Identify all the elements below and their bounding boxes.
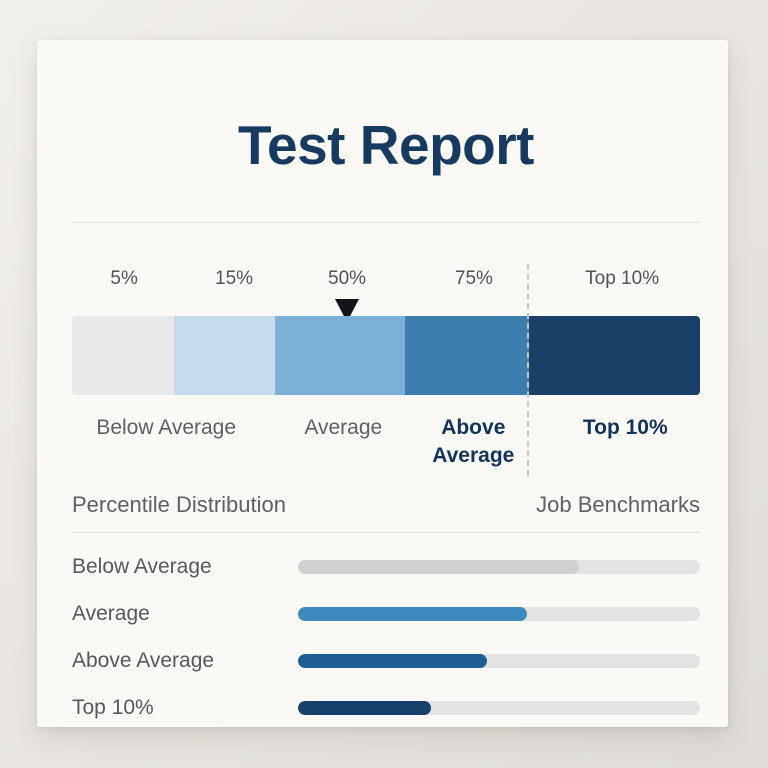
category-label-row: Below AverageAverageAbove AverageTop 10%	[72, 414, 700, 474]
tick-label: 15%	[215, 266, 253, 292]
tick-label: Top 10%	[585, 266, 659, 292]
benchmark-row: Below Average	[72, 554, 700, 601]
benchmark-progress-track[interactable]	[298, 654, 700, 668]
benchmark-progress-fill	[298, 560, 579, 574]
score-marker-icon	[335, 299, 359, 322]
category-label: Above Average	[418, 414, 528, 470]
benchmark-row: Top 10%	[72, 695, 700, 727]
percentile-distribution-caption: Percentile Distribution	[72, 490, 286, 520]
category-label: Below Average	[96, 414, 236, 442]
benchmark-label: Top 10%	[72, 695, 154, 721]
benchmark-row: Average	[72, 601, 700, 648]
category-label: Average	[304, 414, 382, 442]
percentile-segment[interactable]	[275, 316, 405, 395]
percentile-segment-bar[interactable]	[72, 316, 700, 395]
benchmark-progress-track[interactable]	[298, 560, 700, 574]
page-title: Test Report	[72, 114, 700, 176]
benchmark-row: Above Average	[72, 648, 700, 695]
benchmark-progress-fill	[298, 654, 487, 668]
tick-label-row: 5%15%50%75%Top 10%	[72, 266, 700, 294]
benchmark-progress-fill	[298, 607, 527, 621]
divider-middle	[72, 532, 700, 533]
benchmark-divider-line	[527, 264, 529, 476]
tick-label: 50%	[328, 266, 366, 292]
job-benchmarks-caption: Job Benchmarks	[536, 490, 700, 520]
percentile-segment[interactable]	[72, 316, 174, 395]
tick-label: 75%	[455, 266, 493, 292]
benchmark-progress-fill	[298, 701, 431, 715]
card-content: Test Report 5%15%50%75%Top 10% Below Ave…	[72, 40, 700, 727]
report-card: Test Report 5%15%50%75%Top 10% Below Ave…	[37, 40, 728, 727]
percentile-segment[interactable]	[529, 316, 700, 395]
tick-label: 5%	[110, 266, 137, 292]
benchmark-list: Below AverageAverageAbove AverageTop 10%	[72, 554, 700, 727]
category-label: Top 10%	[583, 414, 668, 442]
benchmark-label: Above Average	[72, 648, 214, 674]
benchmark-progress-track[interactable]	[298, 607, 700, 621]
benchmark-label: Average	[72, 601, 150, 627]
benchmark-label: Below Average	[72, 554, 212, 580]
benchmark-progress-track[interactable]	[298, 701, 700, 715]
divider-top	[72, 222, 700, 223]
percentile-segment[interactable]	[405, 316, 528, 395]
section-caption-row: Percentile Distribution Job Benchmarks	[72, 490, 700, 520]
percentile-segment[interactable]	[174, 316, 276, 395]
